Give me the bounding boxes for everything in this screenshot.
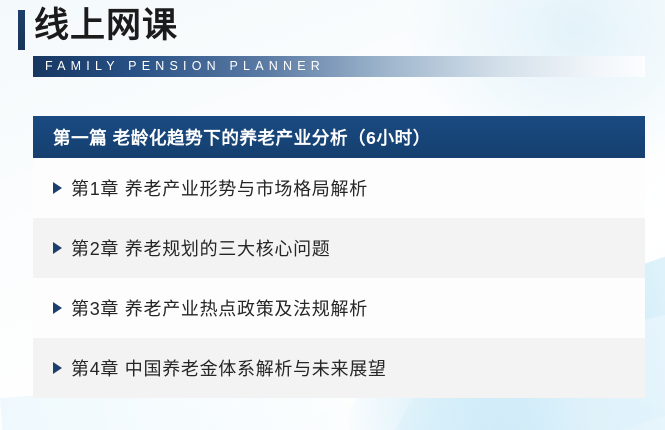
chevron-right-icon	[53, 362, 62, 374]
content-panel: 第一篇 老龄化趋势下的养老产业分析（6小时） 第1章 养老产业形势与市场格局解析…	[33, 116, 645, 398]
list-item[interactable]: 第1章 养老产业形势与市场格局解析	[33, 158, 645, 218]
section-heading-text: 第一篇 老龄化趋势下的养老产业分析（6小时）	[33, 125, 431, 150]
title-row: 线上网课	[0, 0, 665, 52]
chapter-list: 第1章 养老产业形势与市场格局解析 第2章 养老规划的三大核心问题 第3章 养老…	[33, 158, 645, 398]
slide-header: 线上网课 FAMILY PENSION PLANNER	[0, 0, 665, 52]
list-item[interactable]: 第2章 养老规划的三大核心问题	[33, 218, 645, 278]
chevron-right-icon	[53, 302, 62, 314]
chevron-right-icon	[53, 182, 62, 194]
chapter-label: 第3章 养老产业热点政策及法规解析	[71, 295, 368, 321]
chapter-label: 第1章 养老产业形势与市场格局解析	[71, 175, 368, 201]
chapter-label: 第4章 中国养老金体系解析与未来展望	[71, 355, 387, 381]
section-heading-bar: 第一篇 老龄化趋势下的养老产业分析（6小时）	[33, 116, 645, 158]
chevron-right-icon	[53, 242, 62, 254]
page-subtitle: FAMILY PENSION PLANNER	[45, 56, 325, 77]
chapter-label: 第2章 养老规划的三大核心问题	[71, 235, 331, 261]
slide-root: 线上网课 FAMILY PENSION PLANNER 第一篇 老龄化趋势下的养…	[0, 0, 665, 430]
list-item[interactable]: 第3章 养老产业热点政策及法规解析	[33, 278, 645, 338]
page-title: 线上网课	[34, 3, 178, 49]
title-accent-bar-icon	[18, 10, 25, 50]
list-item[interactable]: 第4章 中国养老金体系解析与未来展望	[33, 338, 645, 398]
subtitle-gradient-bar: FAMILY PENSION PLANNER	[33, 56, 645, 77]
